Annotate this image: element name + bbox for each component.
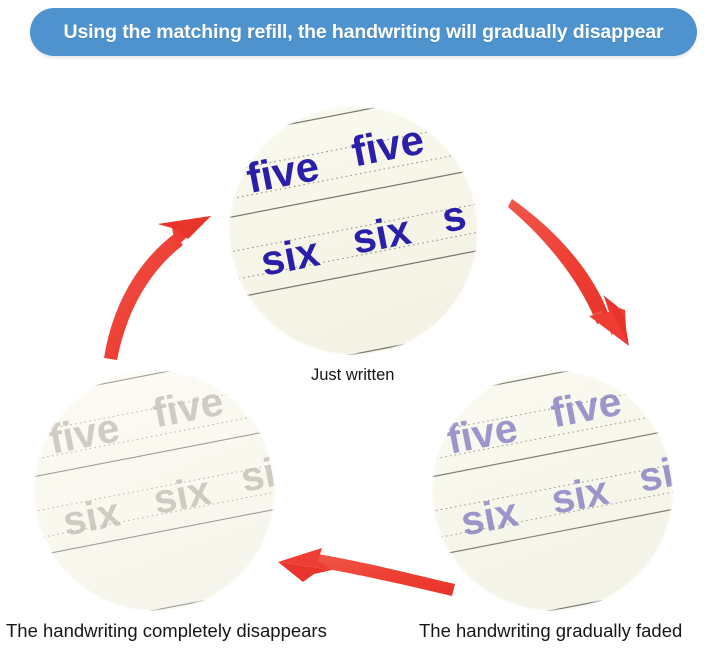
arrow-top-to-right bbox=[508, 199, 629, 346]
arrow-right-to-left bbox=[278, 548, 455, 596]
header-banner-text: Using the matching refill, the handwriti… bbox=[64, 21, 664, 44]
svg-text:e: e bbox=[432, 425, 433, 475]
caption-just-written: Just written bbox=[311, 366, 394, 385]
stage-photo-just-written: e five five six six s bbox=[229, 106, 478, 355]
stage-photo-completely-disappears: e five five six six si bbox=[34, 370, 275, 611]
svg-text:e: e bbox=[34, 425, 35, 475]
stage-photo-gradually-faded: e five five six six si bbox=[432, 370, 673, 611]
caption-gradually-faded: The handwriting gradually faded bbox=[419, 620, 682, 642]
arrow-left-to-top bbox=[104, 216, 211, 360]
header-banner: Using the matching refill, the handwriti… bbox=[30, 8, 697, 56]
caption-completely-disappears: The handwriting completely disappears bbox=[6, 620, 327, 642]
